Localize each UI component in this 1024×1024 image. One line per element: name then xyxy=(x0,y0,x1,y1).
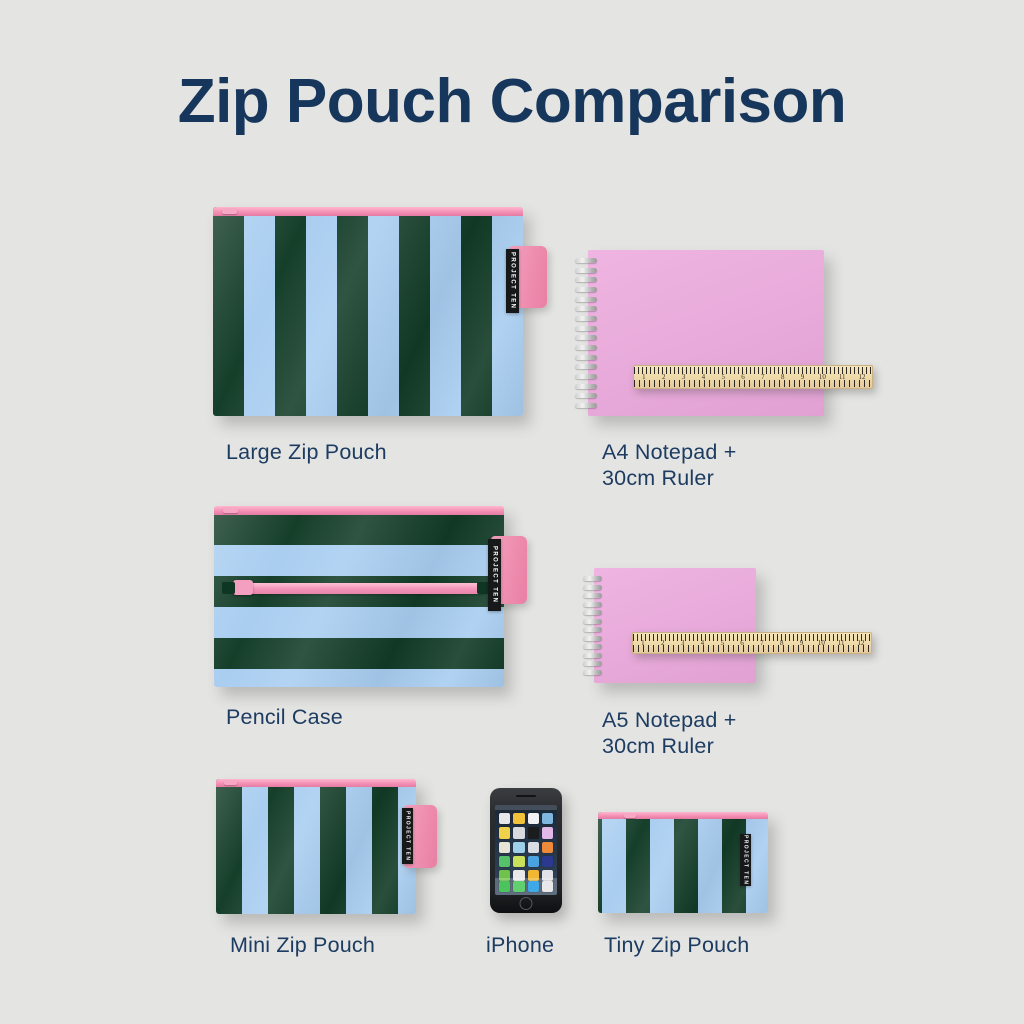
brand-label-project-ten: PROJECT TEN xyxy=(740,834,751,886)
spiral-coil xyxy=(583,619,602,624)
ruler-30cm-a4[interactable]: 1 2 3 4 5 6 7 8 9 10 11 12 xyxy=(633,365,873,389)
spiral-coil xyxy=(583,610,602,615)
zipper-top[interactable] xyxy=(214,506,504,515)
spiral-coil xyxy=(583,576,602,581)
stripe-pattern-vertical xyxy=(213,207,523,416)
app-icon[interactable] xyxy=(528,842,539,853)
home-button[interactable] xyxy=(520,897,533,910)
zipper-end-cap-left xyxy=(222,582,235,594)
app-icon[interactable] xyxy=(528,827,539,838)
spiral-coil xyxy=(575,277,597,282)
spiral-coil xyxy=(583,670,602,675)
app-icon[interactable] xyxy=(528,813,539,824)
spiral-coil xyxy=(583,653,602,658)
spiral-coil xyxy=(575,345,597,350)
caption-large-zip-pouch: Large Zip Pouch xyxy=(226,439,486,465)
product-iphone[interactable] xyxy=(490,788,562,913)
spiral-coil xyxy=(575,355,597,360)
spiral-binding xyxy=(583,568,602,683)
product-a4-notepad[interactable] xyxy=(588,250,824,416)
caption-mini-zip-pouch: Mini Zip Pouch xyxy=(230,932,470,958)
spiral-coil xyxy=(575,297,597,302)
stripe-pattern-vertical xyxy=(216,779,416,914)
spiral-coil xyxy=(583,602,602,607)
spiral-coil xyxy=(583,593,602,598)
spiral-coil xyxy=(575,268,597,273)
pouch-body xyxy=(213,207,523,416)
app-icon[interactable] xyxy=(513,813,524,824)
spiral-binding xyxy=(575,250,597,416)
app-icon[interactable] xyxy=(513,827,524,838)
page-title: Zip Pouch Comparison xyxy=(0,66,1024,137)
zipper-top[interactable] xyxy=(216,779,416,787)
app-icon[interactable] xyxy=(528,856,539,867)
app-icon[interactable] xyxy=(542,827,553,838)
notepad-page xyxy=(588,250,824,416)
spiral-coil xyxy=(575,403,597,408)
caption-pencil-case: Pencil Case xyxy=(226,704,486,730)
ruler-ticks-imperial xyxy=(633,645,871,652)
spiral-coil xyxy=(583,636,602,641)
brand-label-project-ten: PROJECT TEN xyxy=(506,249,519,313)
zipper-pull[interactable] xyxy=(224,780,237,785)
spiral-coil xyxy=(575,287,597,292)
ruler-ticks-imperial xyxy=(634,380,872,387)
dock-icon-messages[interactable] xyxy=(513,881,524,892)
caption-a5-notepad-ruler: A5 Notepad + 30cm Ruler xyxy=(602,707,862,759)
zipper-pull[interactable] xyxy=(222,208,237,214)
app-dock[interactable] xyxy=(495,878,557,895)
pouch-body xyxy=(216,779,416,914)
spiral-coil xyxy=(575,374,597,379)
spiral-coil xyxy=(583,627,602,632)
stripe-pattern-horizontal xyxy=(214,506,504,687)
dock-icon-music[interactable] xyxy=(542,881,553,892)
product-mini-zip-pouch[interactable]: PROJECT TEN xyxy=(216,779,416,914)
product-tiny-zip-pouch[interactable]: PROJECT TEN xyxy=(598,812,768,913)
zipper-pull-top[interactable] xyxy=(223,507,238,513)
zipper-top[interactable] xyxy=(213,207,523,216)
spiral-coil xyxy=(575,316,597,321)
notepad-page xyxy=(594,568,756,683)
zipper-pull[interactable] xyxy=(624,813,636,818)
caption-tiny-zip-pouch: Tiny Zip Pouch xyxy=(604,932,844,958)
ruler-30cm-a5[interactable]: 1 2 3 4 5 6 7 8 9 10 11 12 xyxy=(632,632,872,654)
spiral-coil xyxy=(575,335,597,340)
earpiece-speaker xyxy=(516,795,536,797)
app-icon[interactable] xyxy=(499,813,510,824)
brand-label-project-ten: PROJECT TEN xyxy=(402,808,413,864)
spiral-coil xyxy=(583,585,602,590)
spiral-coil xyxy=(575,258,597,263)
app-icon[interactable] xyxy=(499,842,510,853)
product-a5-notepad[interactable] xyxy=(594,568,756,683)
app-icon[interactable] xyxy=(513,842,524,853)
dock-icon-safari[interactable] xyxy=(528,881,539,892)
app-icon[interactable] xyxy=(513,856,524,867)
spiral-coil xyxy=(575,393,597,398)
spiral-coil xyxy=(575,384,597,389)
zipper-middle[interactable] xyxy=(230,583,488,594)
spiral-coil xyxy=(575,306,597,311)
spiral-coil xyxy=(583,661,602,666)
spiral-coil xyxy=(575,326,597,331)
app-icon-grid[interactable] xyxy=(495,810,557,884)
spiral-coil xyxy=(575,364,597,369)
pouch-body xyxy=(214,506,504,687)
product-pencil-case[interactable]: PROJECT TEN xyxy=(214,506,504,687)
app-icon[interactable] xyxy=(499,856,510,867)
app-icon[interactable] xyxy=(542,856,553,867)
caption-a4-notepad-ruler: A4 Notepad + 30cm Ruler xyxy=(602,439,862,491)
dock-icon-phone[interactable] xyxy=(499,881,510,892)
app-icon[interactable] xyxy=(542,842,553,853)
iphone-screen[interactable] xyxy=(495,805,557,895)
product-large-zip-pouch[interactable]: PROJECT TEN xyxy=(213,207,523,416)
spiral-coil xyxy=(583,644,602,649)
brand-label-project-ten: PROJECT TEN xyxy=(488,539,501,611)
zipper-middle-pull[interactable] xyxy=(233,580,253,595)
app-icon[interactable] xyxy=(542,813,553,824)
app-icon[interactable] xyxy=(499,827,510,838)
